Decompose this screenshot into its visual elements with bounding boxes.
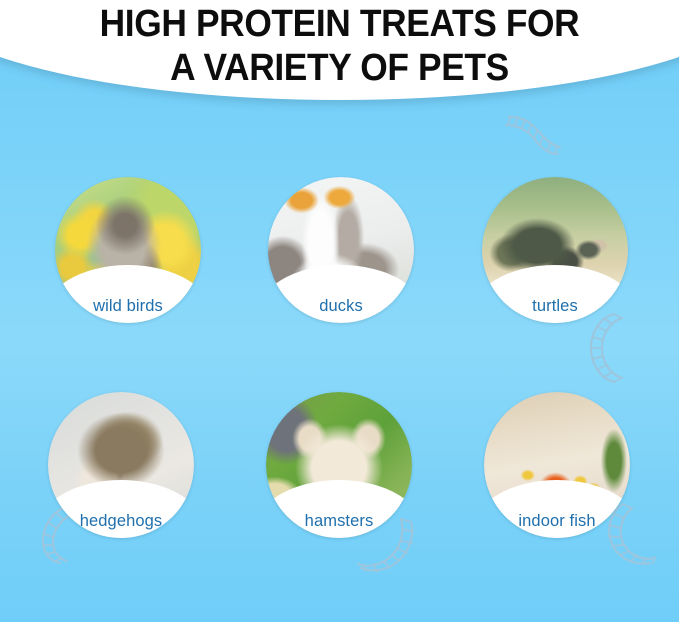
title-line-2: A VARIETY OF PETS	[24, 46, 655, 90]
pet-circle: wild birds	[55, 177, 201, 323]
pet-card-indoor-fish[interactable]: indoor fish	[484, 392, 630, 538]
pet-label: hamsters	[266, 512, 412, 531]
pet-circle: turtles	[482, 177, 628, 323]
page-title: HIGH PROTEIN TREATS FOR A VARIETY OF PET…	[0, 0, 679, 90]
pet-label: turtles	[482, 297, 628, 316]
pet-label: indoor fish	[484, 512, 630, 531]
title-line-1: HIGH PROTEIN TREATS FOR	[24, 2, 655, 46]
pet-circle: ducks	[268, 177, 414, 323]
pet-circle: hedgehogs	[48, 392, 194, 538]
pet-card-hedgehogs[interactable]: hedgehogs	[48, 392, 194, 538]
pet-card-ducks[interactable]: ducks	[268, 177, 414, 323]
pet-label: wild birds	[55, 297, 201, 316]
pet-label: hedgehogs	[48, 512, 194, 531]
pet-circle: indoor fish	[484, 392, 630, 538]
pet-label: ducks	[268, 297, 414, 316]
promo-image: wild birds ducks turtles hedgehogs	[0, 0, 679, 622]
pet-circle: hamsters	[266, 392, 412, 538]
pet-card-wild-birds[interactable]: wild birds	[55, 177, 201, 323]
pet-card-hamsters[interactable]: hamsters	[266, 392, 412, 538]
pet-card-turtles[interactable]: turtles	[482, 177, 628, 323]
